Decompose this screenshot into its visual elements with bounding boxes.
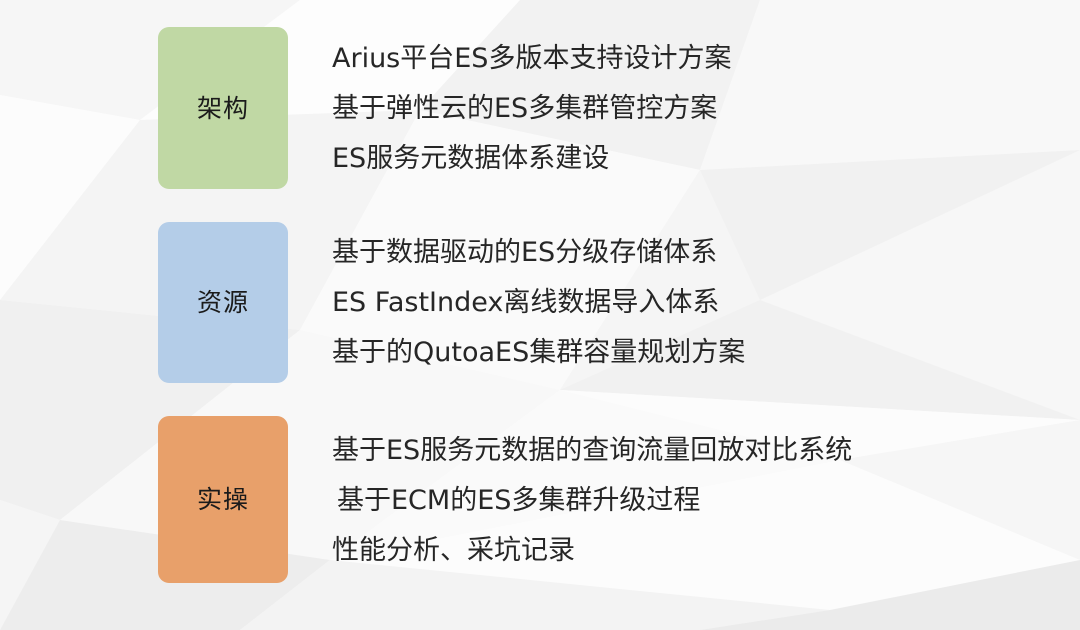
group-chip-operation[interactable]: 实操 xyxy=(158,416,288,583)
group-items-operation: 基于ES服务元数据的查询流量回放对比系统 基于ECM的ES多集群升级过程 性能分… xyxy=(288,416,1080,583)
group-chip-label: 资源 xyxy=(197,290,249,315)
group-row-architecture: 架构 Arius平台ES多版本支持设计方案 基于弹性云的ES多集群管控方案 ES… xyxy=(158,27,1080,189)
list-item[interactable]: ES服务元数据体系建设 xyxy=(332,134,1080,184)
list-item[interactable]: 性能分析、采坑记录 xyxy=(332,526,1080,576)
list-item[interactable]: 基于数据驱动的ES分级存储体系 xyxy=(332,228,1080,278)
list-item[interactable]: ES FastIndex离线数据导入体系 xyxy=(332,278,1080,328)
group-chip-label: 架构 xyxy=(197,96,249,121)
group-items-resource: 基于数据驱动的ES分级存储体系 ES FastIndex离线数据导入体系 基于的… xyxy=(288,222,1080,383)
group-chip-resource[interactable]: 资源 xyxy=(158,222,288,383)
list-item[interactable]: 基于的QutoaES集群容量规划方案 xyxy=(332,328,1080,378)
list-item[interactable]: 基于弹性云的ES多集群管控方案 xyxy=(332,84,1080,134)
list-item[interactable]: Arius平台ES多版本支持设计方案 xyxy=(332,34,1080,84)
group-items-architecture: Arius平台ES多版本支持设计方案 基于弹性云的ES多集群管控方案 ES服务元… xyxy=(288,27,1080,189)
group-chip-label: 实操 xyxy=(197,487,249,512)
list-item[interactable]: 基于ECM的ES多集群升级过程 xyxy=(332,476,1080,526)
group-chip-architecture[interactable]: 架构 xyxy=(158,27,288,189)
group-row-resource: 资源 基于数据驱动的ES分级存储体系 ES FastIndex离线数据导入体系 … xyxy=(158,222,1080,383)
slide-canvas: 架构 Arius平台ES多版本支持设计方案 基于弹性云的ES多集群管控方案 ES… xyxy=(0,0,1080,630)
group-list: 架构 Arius平台ES多版本支持设计方案 基于弹性云的ES多集群管控方案 ES… xyxy=(0,0,1080,630)
list-item[interactable]: 基于ES服务元数据的查询流量回放对比系统 xyxy=(332,426,1080,476)
group-row-operation: 实操 基于ES服务元数据的查询流量回放对比系统 基于ECM的ES多集群升级过程 … xyxy=(158,416,1080,583)
